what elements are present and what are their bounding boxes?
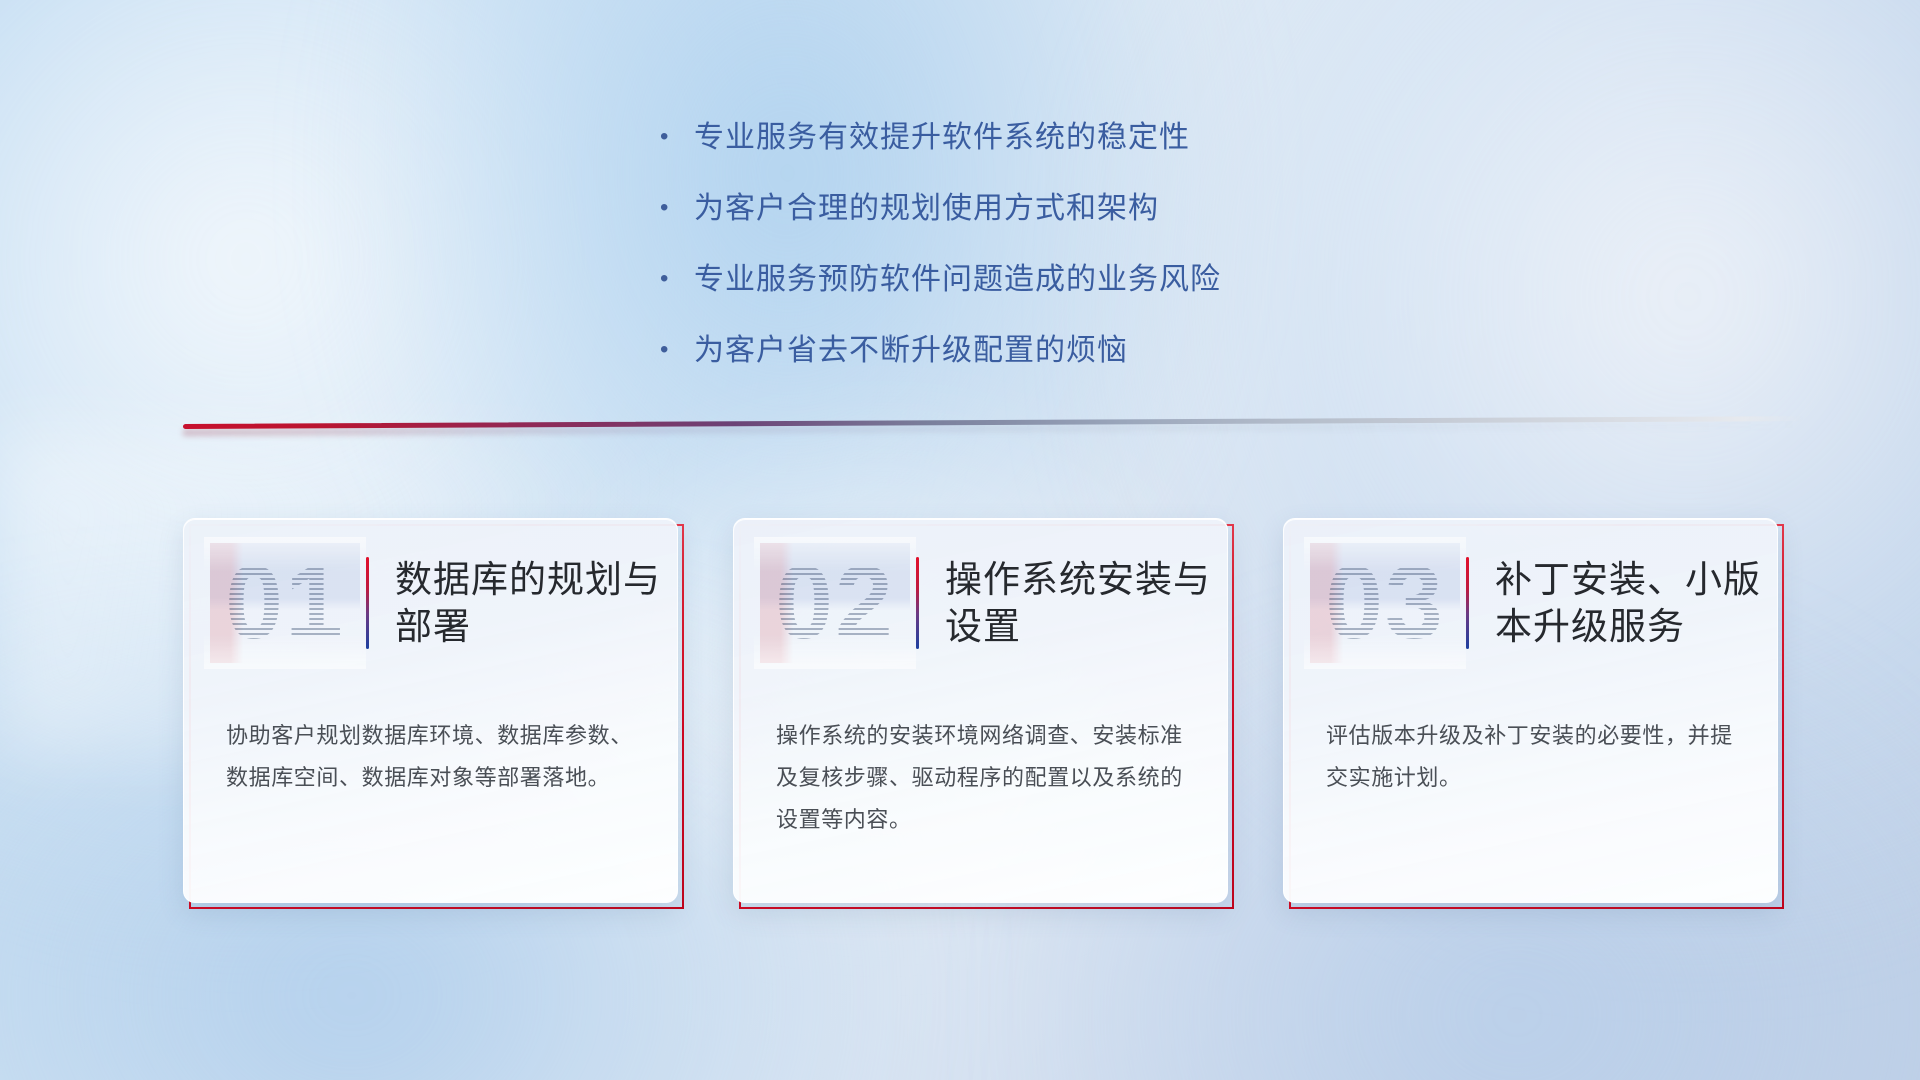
service-card-02[interactable]: 02 操作系统安装与设置 操作系统的安装环境网络调查、安装标准及复核步骤、驱动程… [733, 518, 1228, 903]
service-card-01[interactable]: 01 数据库的规划与部署 协助客户规划数据库环境、数据库参数、数据库空间、数据库… [183, 518, 678, 903]
card-number-glyph: 01 [225, 551, 345, 655]
card-accent-bar [1466, 557, 1469, 649]
card-accent-bar [916, 557, 919, 649]
card-body-text: 协助客户规划数据库环境、数据库参数、数据库空间、数据库对象等部署落地。 [226, 715, 638, 799]
card-body-text: 评估版本升级及补丁安装的必要性，并提交实施计划。 [1326, 715, 1738, 799]
bullet-text: 专业服务有效提升软件系统的稳定性 [694, 112, 1190, 156]
service-card-03[interactable]: 03 补丁安装、小版本升级服务 评估版本升级及补丁安装的必要性，并提交实施计划。 [1283, 518, 1778, 903]
card-surface: 01 数据库的规划与部署 协助客户规划数据库环境、数据库参数、数据库空间、数据库… [183, 518, 678, 903]
service-cards: 01 数据库的规划与部署 协助客户规划数据库环境、数据库参数、数据库空间、数据库… [183, 518, 1778, 903]
bullet-text: 为客户省去不断升级配置的烦恼 [694, 325, 1128, 369]
card-title: 操作系统安装与设置 [945, 556, 1227, 651]
card-header: 02 操作系统安装与设置 [734, 533, 1227, 673]
bullet-item: • 为客户省去不断升级配置的烦恼 [660, 325, 1221, 369]
bullet-text: 专业服务预防软件问题造成的业务风险 [694, 254, 1221, 298]
card-number-decoration: 03 [1310, 543, 1460, 663]
bullet-dot-icon: • [660, 196, 694, 220]
card-number-decoration: 01 [210, 543, 360, 663]
card-header: 03 补丁安装、小版本升级服务 [1284, 533, 1777, 673]
bullet-item: • 专业服务预防软件问题造成的业务风险 [660, 254, 1221, 298]
bullet-dot-icon: • [660, 267, 694, 291]
card-surface: 02 操作系统安装与设置 操作系统的安装环境网络调查、安装标准及复核步骤、驱动程… [733, 518, 1228, 903]
card-title: 补丁安装、小版本升级服务 [1495, 556, 1777, 651]
bullet-item: • 为客户合理的规划使用方式和架构 [660, 183, 1221, 227]
bullet-item: • 专业服务有效提升软件系统的稳定性 [660, 112, 1221, 156]
bullet-dot-icon: • [660, 125, 694, 149]
card-number-glyph: 02 [775, 551, 895, 655]
card-accent-bar [366, 557, 369, 649]
card-body-text: 操作系统的安装环境网络调查、安装标准及复核步骤、驱动程序的配置以及系统的设置等内… [776, 715, 1188, 842]
gradient-divider [183, 424, 1803, 440]
card-number-decoration: 02 [760, 543, 910, 663]
card-title: 数据库的规划与部署 [395, 556, 677, 651]
card-header: 01 数据库的规划与部署 [184, 533, 677, 673]
bullet-dot-icon: • [660, 338, 694, 362]
benefits-bullet-list: • 专业服务有效提升软件系统的稳定性 • 为客户合理的规划使用方式和架构 • 专… [660, 112, 1221, 396]
card-number-glyph: 03 [1325, 551, 1445, 655]
slide-stage: • 专业服务有效提升软件系统的稳定性 • 为客户合理的规划使用方式和架构 • 专… [0, 0, 1920, 1080]
card-surface: 03 补丁安装、小版本升级服务 评估版本升级及补丁安装的必要性，并提交实施计划。 [1283, 518, 1778, 903]
bullet-text: 为客户合理的规划使用方式和架构 [694, 183, 1159, 227]
